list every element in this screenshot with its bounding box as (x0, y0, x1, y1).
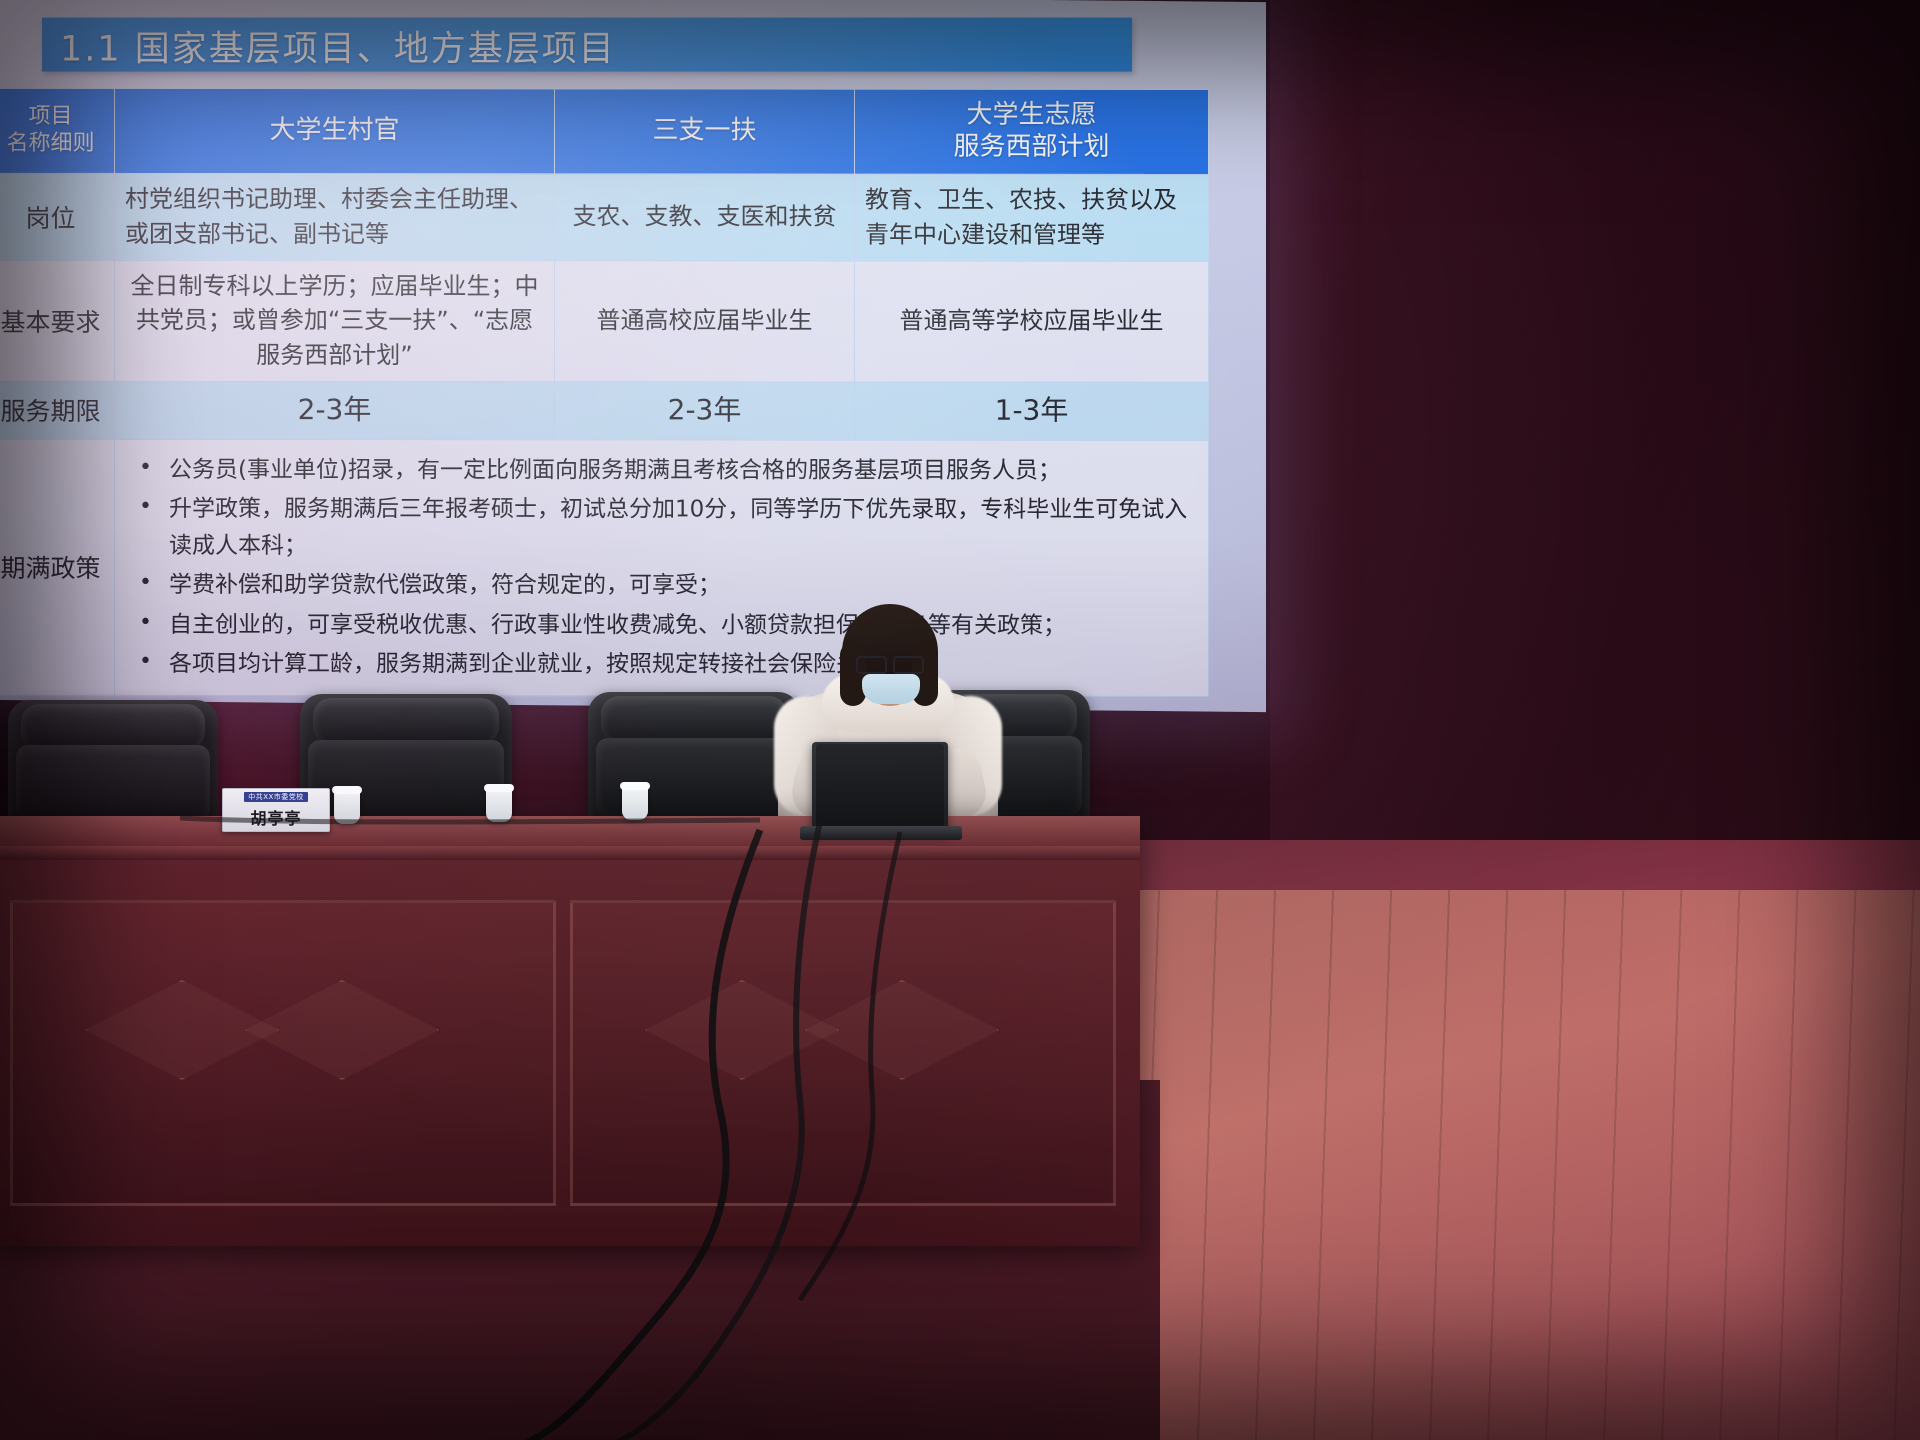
glasses-icon (856, 656, 924, 670)
cell-qixian-cunguan: 2-3年 (115, 381, 555, 439)
projection-screen: 1.1 国家基层项目、地方基层项目 项目名称细则 大学生村官 三支一扶 大学生志… (0, 0, 1266, 712)
policy-bullet-list: 公务员(事业单位)招录，有一定比例面向服务期满且考核合格的服务基层项目服务人员；… (123, 452, 1194, 684)
face-mask (862, 674, 920, 704)
conference-chair (300, 694, 512, 830)
cell-yaoqiu-xibu: 普通高等学校应届毕业生 (855, 261, 1209, 383)
list-item: 公务员(事业单位)招录，有一定比例面向服务期满且考核合格的服务基层项目服务人员； (169, 452, 1194, 490)
lecture-hall-photo: 1.1 国家基层项目、地方基层项目 项目名称细则 大学生村官 三支一扶 大学生志… (0, 0, 1920, 1440)
presenter-hair-left (840, 642, 866, 706)
chair-back (16, 745, 209, 822)
cell-qixian-sanzhiyifu: 2-3年 (555, 382, 855, 440)
cell-yaoqiu-sanzhiyifu: 普通高校应届毕业生 (555, 260, 855, 382)
presentation-slide: 1.1 国家基层项目、地方基层项目 项目名称细则 大学生村官 三支一扶 大学生志… (0, 0, 1266, 712)
row-label-jibenyaoqiu: 基本要求 (0, 260, 115, 382)
cell-gangwei-sanzhiyifu: 支农、支教、支医和扶贫 (555, 174, 855, 261)
policy-bullet-cell: 公务员(事业单位)招录，有一定比例面向服务期满且考核合格的服务基层项目服务人员；… (115, 439, 1209, 696)
list-item: 学费补偿和助学贷款代偿政策，符合规定的，可享受； (169, 567, 1194, 605)
paper-cup (334, 790, 360, 824)
header-col-xibu: 大学生志愿 服务西部计划 (855, 89, 1209, 174)
laptop-screen (816, 744, 944, 830)
desk-front-panel (10, 900, 556, 1206)
chair-headrest (21, 704, 206, 749)
header-row-label: 项目名称细则 (0, 88, 115, 173)
list-item: 升学政策，服务期满后三年报考硕士，初试总分加10分，同等学历下优先录取，专科毕业… (169, 491, 1194, 566)
wooden-floor (1100, 890, 1920, 1440)
nameplate-organization: 中共XX市委党校 (244, 792, 308, 802)
paper-cup (486, 788, 512, 822)
desk-nameplate: 中共XX市委党校 胡亭亭 (222, 788, 330, 832)
row-label-fuwuqixian: 服务期限 (0, 381, 115, 439)
table-row: 基本要求 全日制专科以上学历；应届毕业生；中共党员；或曾参加“三支一扶”、“志愿… (0, 260, 1209, 382)
list-item: 各项目均计算工龄，服务期满到企业就业，按照规定转接社会保险关系。 (169, 646, 1194, 684)
table-row: 岗位 村党组织书记助理、村委会主任助理、或团支部书记、副书记等 支农、支教、支医… (0, 173, 1209, 261)
paper-cup (622, 786, 648, 820)
slide-title: 1.1 国家基层项目、地方基层项目 (60, 21, 616, 72)
header-col-cunguan: 大学生村官 (115, 88, 555, 173)
slide-title-bar: 1.1 国家基层项目、地方基层项目 (42, 18, 1132, 72)
row-label-qimanzhengce: 期满政策 (0, 439, 115, 696)
table-row: 服务期限 2-3年 2-3年 1-3年 (0, 381, 1209, 440)
cell-gangwei-cunguan: 村党组织书记助理、村委会主任助理、或团支部书记、副书记等 (115, 173, 555, 260)
row-label-gangwei: 岗位 (0, 173, 115, 260)
nameplate-name: 胡亭亭 (250, 805, 301, 829)
laptop-base (800, 826, 962, 840)
header-col-sanzhiyifu: 三支一扶 (555, 89, 855, 174)
table-header-row: 项目名称细则 大学生村官 三支一扶 大学生志愿 服务西部计划 (0, 88, 1209, 174)
cell-gangwei-xibu: 教育、卫生、农技、扶贫以及青年中心建设和管理等 (855, 174, 1209, 261)
cell-qixian-xibu: 1-3年 (855, 382, 1209, 440)
cell-yaoqiu-cunguan: 全日制专科以上学历；应届毕业生；中共党员；或曾参加“三支一扶”、“志愿服务西部计… (115, 260, 555, 382)
header-col-xibu-line2: 服务西部计划 (953, 132, 1109, 162)
table-row-policy: 期满政策 公务员(事业单位)招录，有一定比例面向服务期满且考核合格的服务基层项目… (0, 439, 1209, 697)
desk-trim-rail (0, 846, 1140, 860)
program-comparison-table: 项目名称细则 大学生村官 三支一扶 大学生志愿 服务西部计划 岗位 村党组织书记… (0, 88, 1209, 697)
auditorium-wall-right (1270, 0, 1920, 870)
list-item: 自主创业的，可享受税收优惠、行政事业性收费减免、小额贷款担保和贴息等有关政策； (169, 607, 1194, 645)
conference-chair (8, 700, 218, 832)
desk-front-panel (570, 900, 1116, 1206)
header-col-xibu-line1: 大学生志愿 (966, 100, 1096, 130)
chair-headrest (313, 698, 500, 744)
